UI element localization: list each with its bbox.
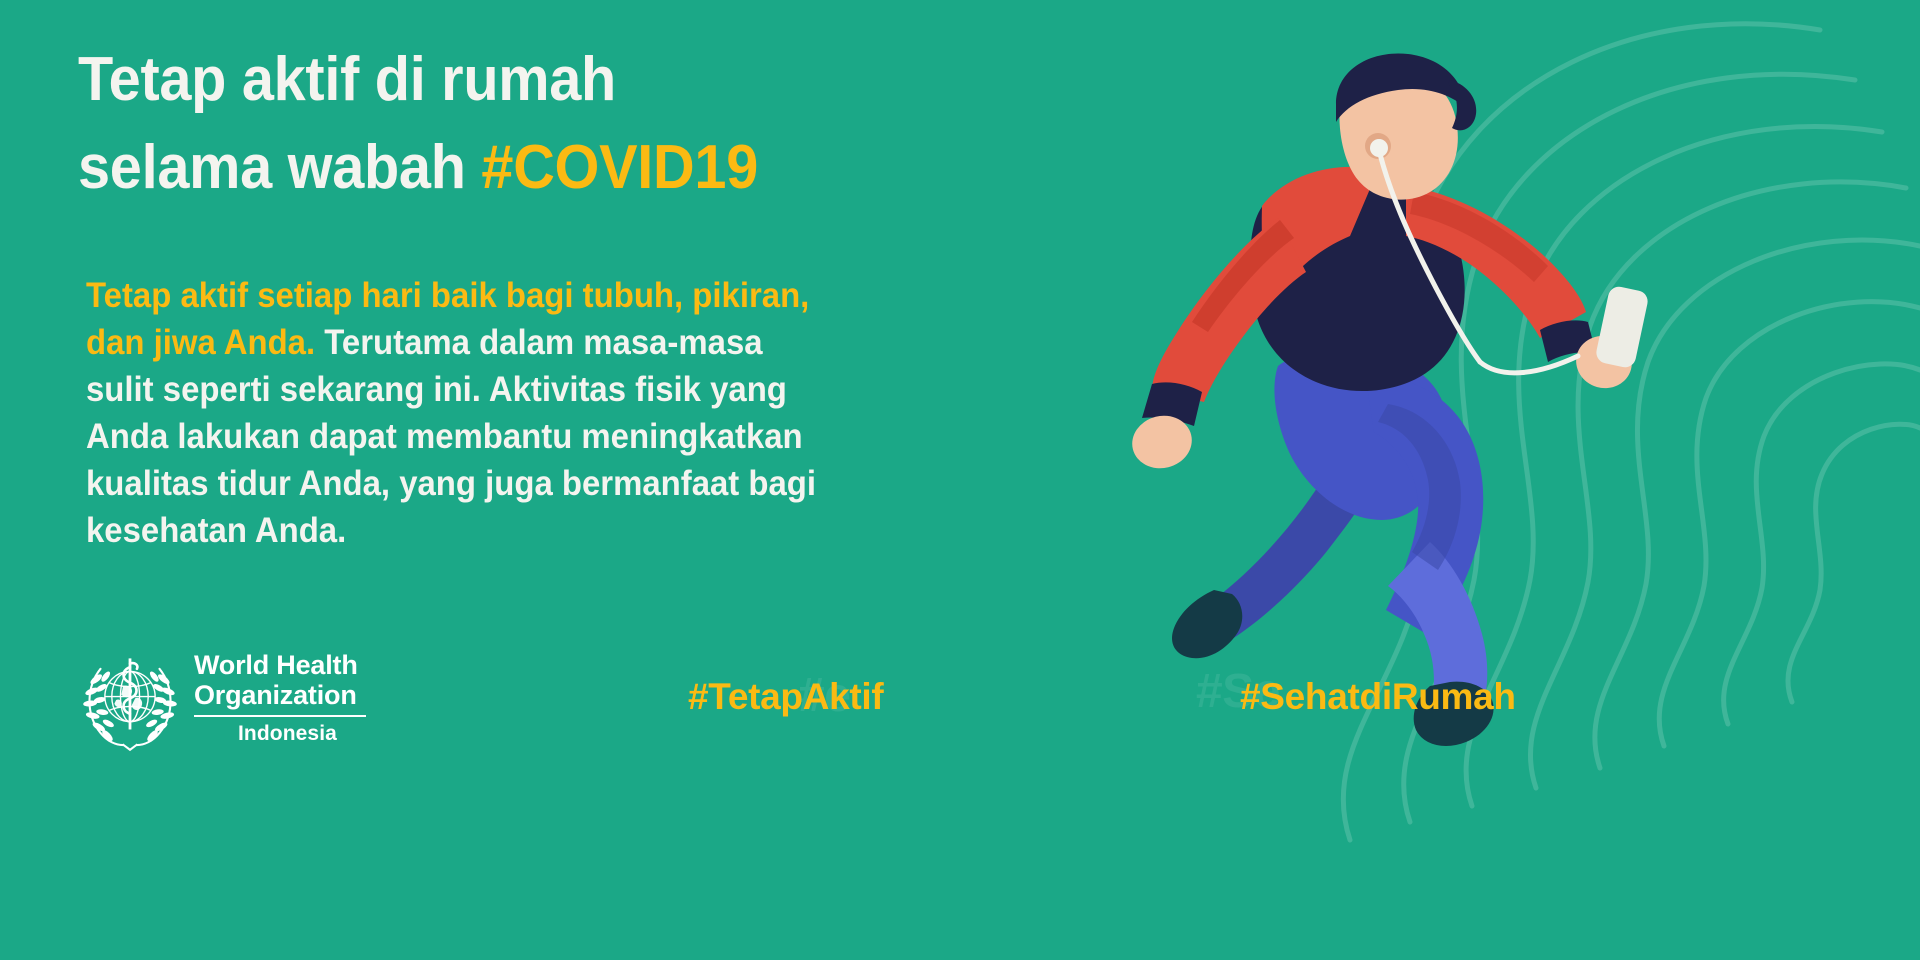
who-emblem-icon xyxy=(78,648,182,752)
poster-canvas: Tetap aktif di rumah selama wabah #COVID… xyxy=(0,0,1920,960)
who-divider xyxy=(194,715,366,717)
body-paragraph: Tetap aktif setiap hari baik bagi tubuh,… xyxy=(86,272,819,554)
hashtag-sehatdirumah: #SehatdiRumah xyxy=(1240,676,1516,718)
who-wordmark-line-2: Organization xyxy=(194,680,366,710)
headline-line-1: Tetap aktif di rumah xyxy=(78,36,1008,124)
running-person-illustration xyxy=(1130,50,1830,770)
who-logo: World Health Organization Indonesia xyxy=(78,644,418,764)
who-wordmark-line-1: World Health xyxy=(194,650,366,680)
hashtag-tetapaktif: #TetapAktif xyxy=(688,676,883,718)
headline-hashtag-covid19: #COVID19 xyxy=(481,133,758,202)
who-country-label: Indonesia xyxy=(194,723,366,745)
headline-line-2-text: selama wabah xyxy=(78,133,481,202)
who-wordmark: World Health Organization Indonesia xyxy=(194,650,366,745)
headline: Tetap aktif di rumah selama wabah #COVID… xyxy=(78,36,1008,212)
headline-line-2: selama wabah #COVID19 xyxy=(78,124,1008,212)
